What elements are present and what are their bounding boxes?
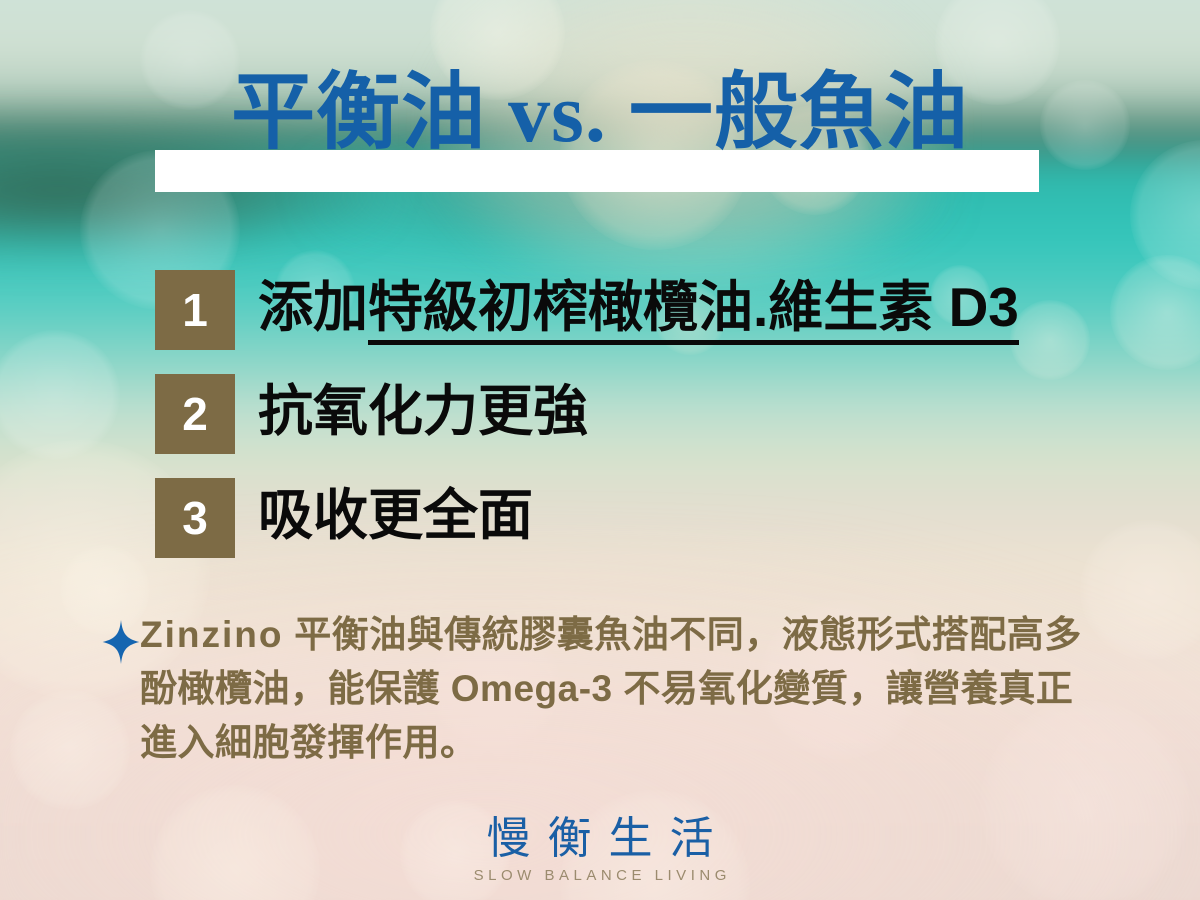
list-item-label: 添加特級初榨橄欖油.維生素 D3 bbox=[258, 267, 1019, 347]
sparkle-icon bbox=[102, 620, 140, 664]
brand-logo: 慢衡生活 SLOW BALANCE LIVING bbox=[0, 814, 1200, 886]
list-item-label: 吸收更全面 bbox=[258, 475, 533, 555]
poster-canvas: 平衡油 vs. 一般魚油 1 添加特級初榨橄欖油.維生素 D3 2 抗氧化力更強… bbox=[0, 0, 1200, 900]
list-item-number-badge: 3 bbox=[155, 478, 235, 558]
description-line-2: 酚橄欖油，能保護 Omega-3 不易氧化變質，讓營養真正 bbox=[140, 668, 1073, 709]
description-block: Zinzino 平衡油與傳統膠囊魚油不同，液態形式搭配高多 酚橄欖油，能保護 O… bbox=[100, 608, 1130, 770]
feature-list: 1 添加特級初榨橄欖油.維生素 D3 2 抗氧化力更強 3 吸收更全面 bbox=[0, 262, 1200, 574]
logo-chinese-name: 慢衡生活 bbox=[0, 814, 1200, 864]
description-text: Zinzino 平衡油與傳統膠囊魚油不同，液態形式搭配高多 酚橄欖油，能保護 O… bbox=[140, 608, 1130, 770]
logo-tagline: SLOW BALANCE LIVING bbox=[0, 866, 1200, 886]
list-item: 2 抗氧化力更強 bbox=[0, 366, 1200, 470]
list-item-label: 抗氧化力更強 bbox=[258, 371, 588, 451]
brand-name: Zinzino bbox=[140, 614, 283, 655]
list-item-number-badge: 1 bbox=[155, 270, 235, 350]
description-line-1: 平衡油與傳統膠囊魚油不同，液態形式搭配高多 bbox=[283, 614, 1081, 655]
list-item-prefix: 抗氧化力更強 bbox=[258, 380, 588, 442]
page-title: 平衡油 vs. 一般魚油 bbox=[0, 72, 1200, 156]
list-item: 1 添加特級初榨橄欖油.維生素 D3 bbox=[0, 262, 1200, 366]
list-item-underlined: 特級初榨橄欖油.維生素 D3 bbox=[368, 276, 1019, 345]
list-item-prefix: 吸收更全面 bbox=[258, 484, 533, 546]
list-item: 3 吸收更全面 bbox=[0, 470, 1200, 574]
list-item-prefix: 添加 bbox=[258, 276, 368, 338]
description-line-3: 進入細胞發揮作用。 bbox=[140, 722, 478, 763]
list-item-number-badge: 2 bbox=[155, 374, 235, 454]
